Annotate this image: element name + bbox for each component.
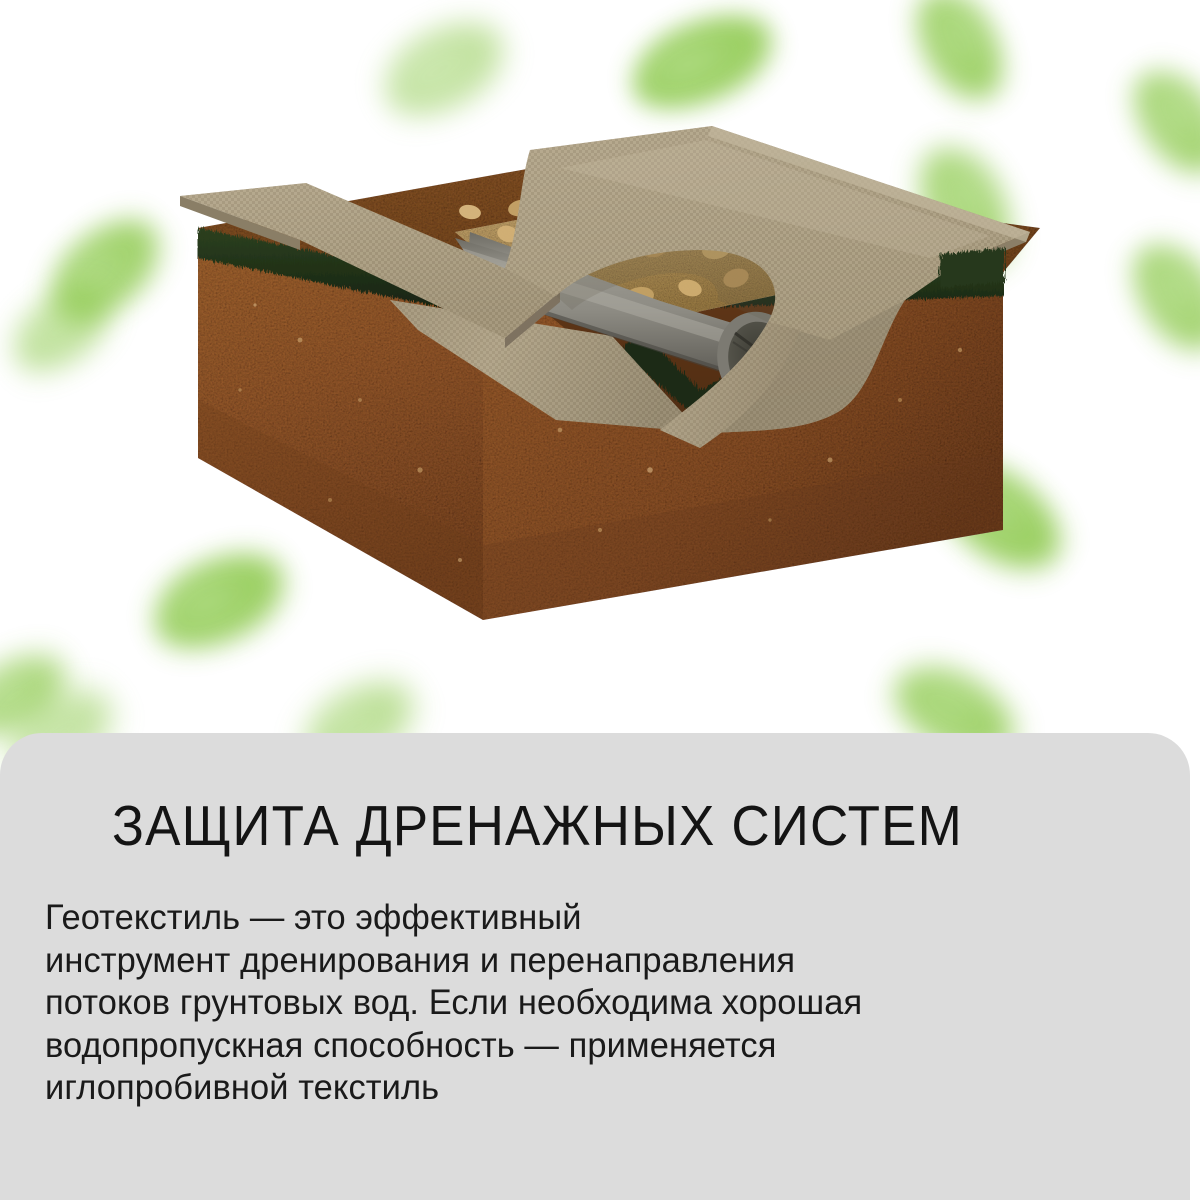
page-description: Геотекстиль — это эффективныйинструмент … <box>45 896 1146 1109</box>
drainage-illustration <box>0 0 1200 700</box>
poster-stage: ЗАЩИТА ДРЕНАЖНЫХ СИСТЕМ Геотекстиль — эт… <box>0 0 1200 1200</box>
page-title: ЗАЩИТА ДРЕНАЖНЫХ СИСТЕМ <box>112 797 1042 855</box>
grass-right-tuft <box>940 248 1005 288</box>
description-line: потоков грунтовых вод. Если необходима х… <box>45 981 1146 1024</box>
description-line: Геотекстиль — это эффективный <box>45 896 1146 939</box>
caption-card: ЗАЩИТА ДРЕНАЖНЫХ СИСТЕМ Геотекстиль — эт… <box>0 733 1190 1200</box>
description-line: водопропускная способность — применяется <box>45 1024 1146 1067</box>
description-line: инструмент дренирования и перенаправлени… <box>45 939 1146 982</box>
description-line: иглопробивной текстиль <box>45 1066 1146 1109</box>
